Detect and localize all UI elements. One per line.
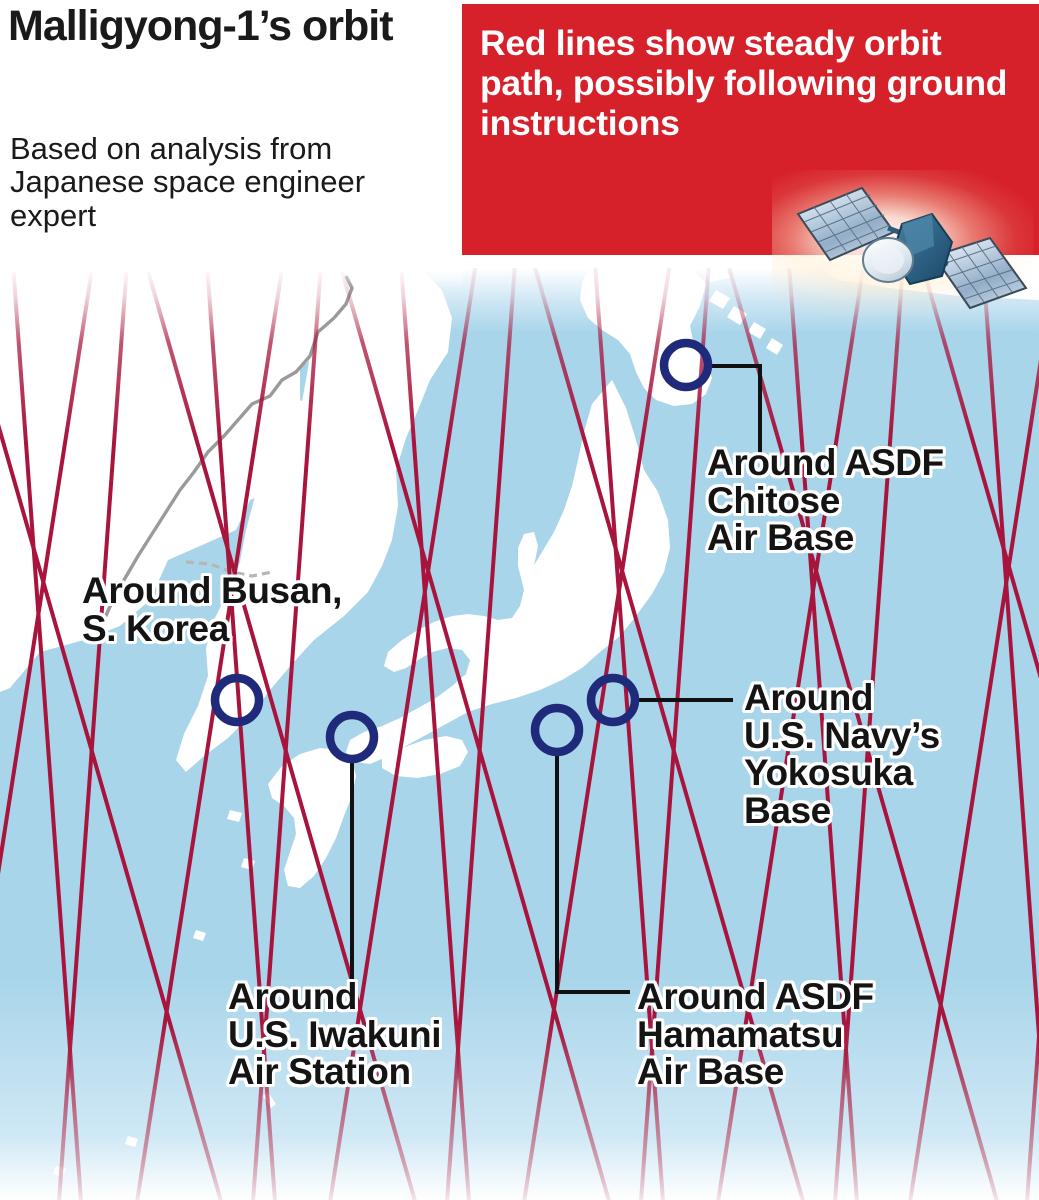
label-busan-line2: S. Korea — [82, 610, 462, 648]
label-iwakuni: Around U.S. Iwakuni Air Station — [228, 978, 558, 1091]
infographic-root: Around ASDF Chitose Air Base Around Busa… — [0, 0, 1039, 1200]
label-yokosuka: Around U.S. Navy’s Yokosuka Base — [744, 679, 1039, 830]
label-hamamatsu-line1: Around ASDF — [637, 978, 987, 1016]
label-iwakuni-line2: U.S. Iwakuni — [228, 1016, 558, 1054]
label-hamamatsu: Around ASDF Hamamatsu Air Base — [637, 978, 987, 1091]
label-yokosuka-line4: Base — [744, 792, 1039, 830]
label-busan: Around Busan, S. Korea — [82, 572, 462, 647]
label-hamamatsu-line3: Air Base — [637, 1053, 987, 1091]
label-iwakuni-line1: Around — [228, 978, 558, 1016]
satellite-dish — [863, 238, 913, 282]
satellite-icon — [784, 184, 1036, 316]
label-yokosuka-line2: U.S. Navy’s — [744, 717, 1039, 755]
label-iwakuni-line3: Air Station — [228, 1053, 558, 1091]
label-chitose-line3: Air Base — [707, 519, 1037, 557]
label-hamamatsu-line2: Hamamatsu — [637, 1016, 987, 1054]
label-yokosuka-line1: Around — [744, 679, 1039, 717]
label-busan-line1: Around Busan, — [82, 572, 462, 610]
label-chitose-line1: Around ASDF — [707, 444, 1037, 482]
label-chitose-line2: Chitose — [707, 482, 1037, 520]
label-yokosuka-line3: Yokosuka — [744, 754, 1039, 792]
label-chitose: Around ASDF Chitose Air Base — [707, 444, 1037, 557]
